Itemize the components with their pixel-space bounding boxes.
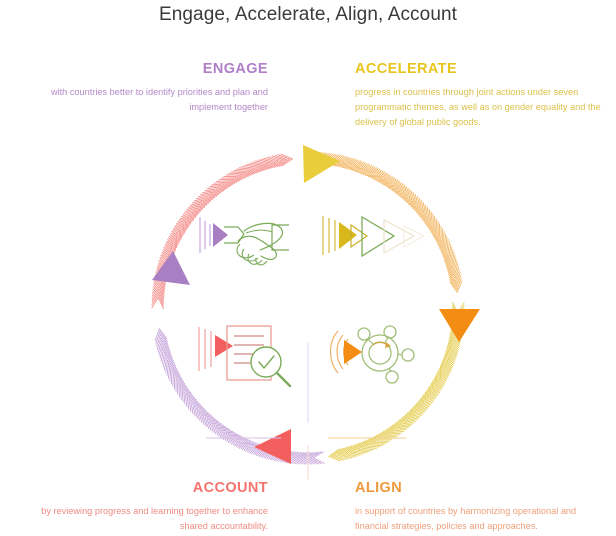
quadrant-body-accelerate: progress in countries through joint acti… <box>355 85 605 130</box>
network-nodes-icon <box>331 326 415 383</box>
icon-cell-engage <box>194 203 304 283</box>
fast-forward-icon <box>323 216 424 256</box>
icon-cell-align <box>318 315 428 395</box>
quadrant-text-account: ACCOUNT by reviewing progress and learni… <box>16 481 268 534</box>
handshake-icon <box>200 217 289 265</box>
arrow-down-align-icon <box>439 309 480 342</box>
quadrant-text-engage: ENGAGE with countries better to identify… <box>16 62 268 115</box>
arrow-right-accelerate-icon <box>303 145 340 183</box>
quadrant-heading-align: ALIGN <box>355 481 605 497</box>
arrow-up-engage-icon <box>152 251 190 285</box>
cycle-diagram <box>128 135 488 480</box>
quadrant-text-align: ALIGN in support of countries by harmoni… <box>355 481 605 534</box>
quadrant-heading-account: ACCOUNT <box>16 481 268 497</box>
quadrant-heading-engage: ENGAGE <box>16 62 268 78</box>
quadrant-body-account: by reviewing progress and learning toget… <box>16 504 268 534</box>
page-title: Engage, Accelerate, Align, Account <box>0 4 616 26</box>
quadrant-body-engage: with countries better to identify priori… <box>16 85 268 115</box>
quadrant-text-accelerate: ACCELERATE progress in countries through… <box>355 62 605 130</box>
quadrant-body-align: in support of countries by harmonizing o… <box>355 504 605 534</box>
document-magnifier-icon <box>199 326 290 386</box>
quadrant-heading-accelerate: ACCELERATE <box>355 62 605 78</box>
icon-cell-accelerate <box>318 203 428 283</box>
icon-cell-account <box>194 315 304 395</box>
